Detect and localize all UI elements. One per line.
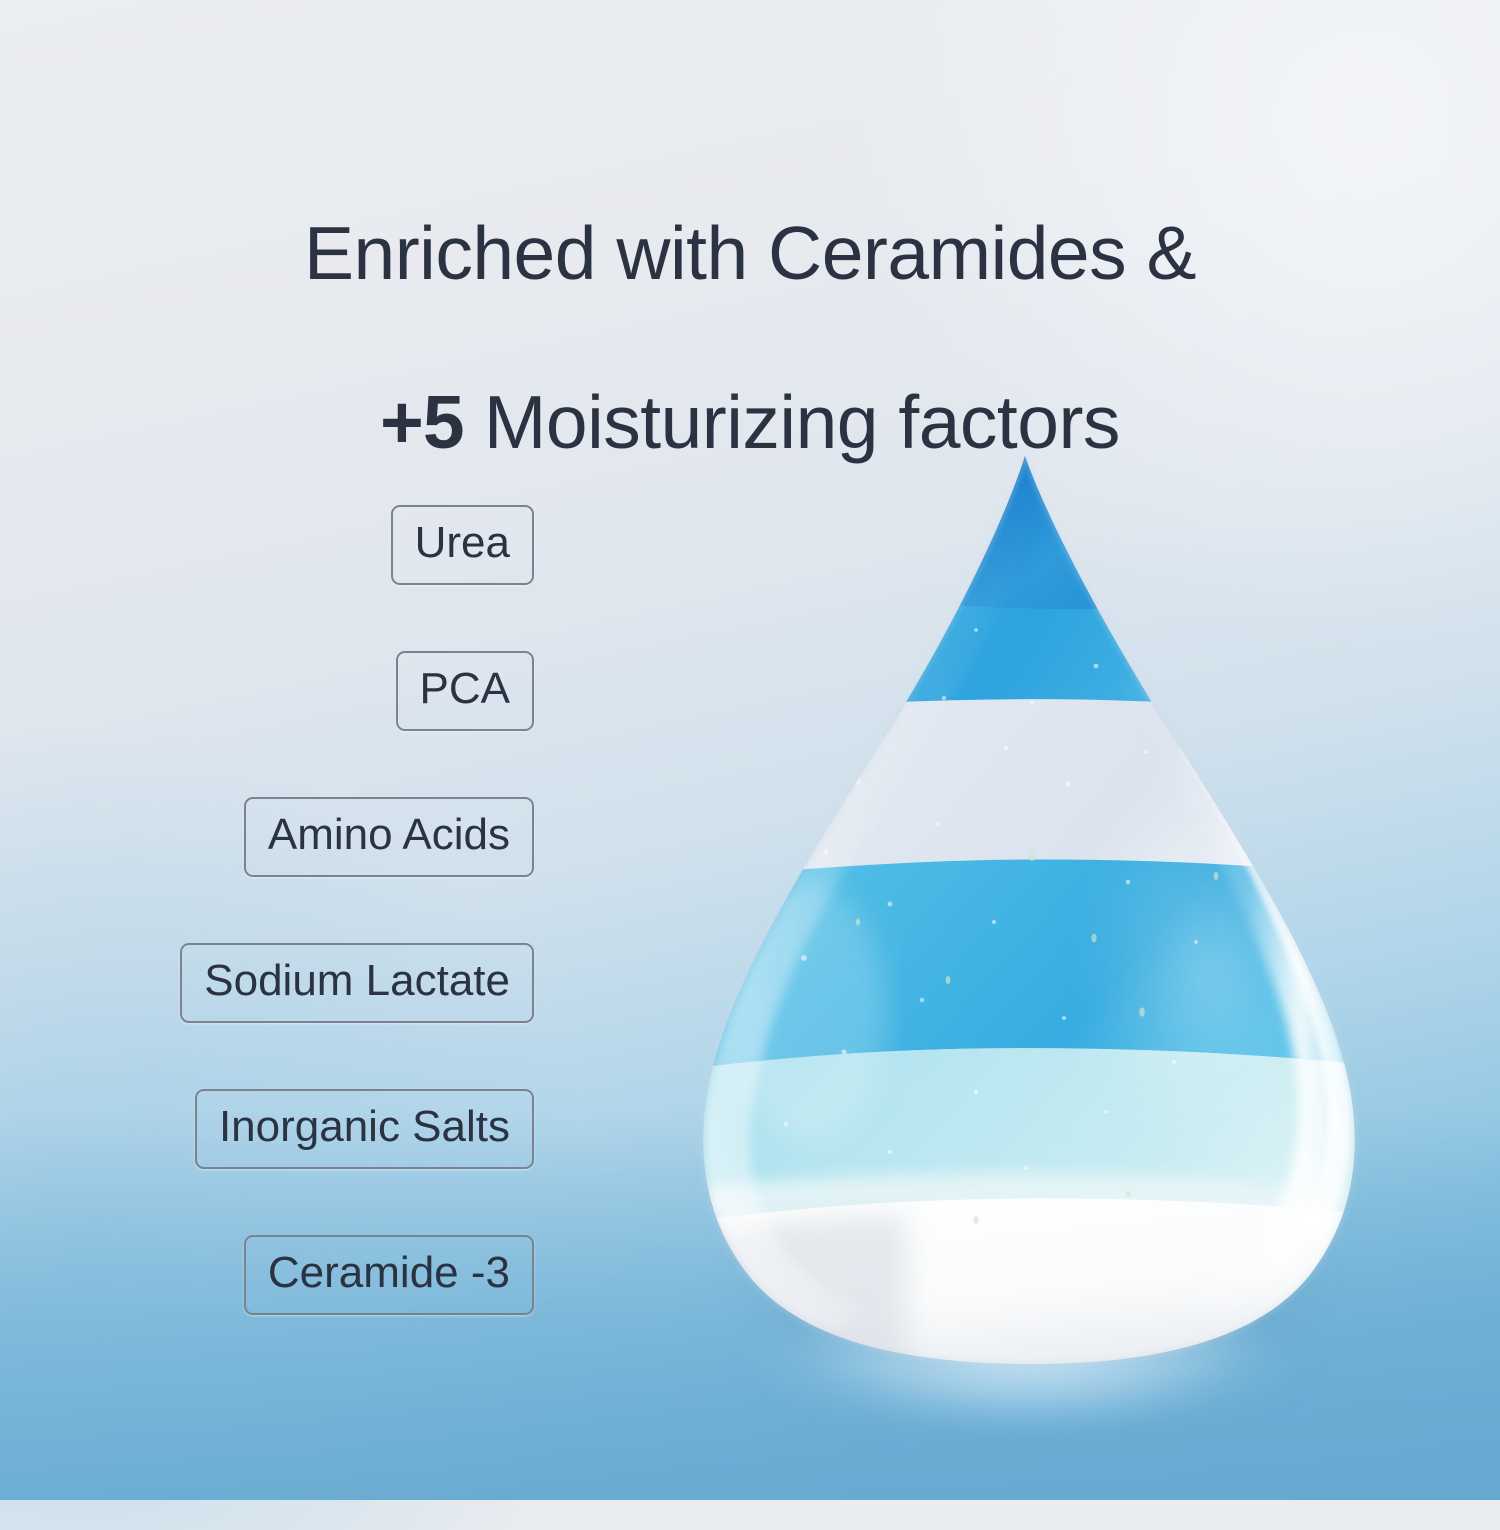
droplet-inner-glow-left	[726, 882, 886, 1142]
plus-five-emphasis: +5	[380, 380, 464, 464]
ingredient-label-amino-acids: Amino Acids	[244, 797, 534, 877]
ingredient-label-ceramide-3: Ceramide -3	[244, 1235, 534, 1315]
page-title: Enriched with Ceramides & +5 Moisturizin…	[0, 126, 1500, 550]
droplet-inner-glow	[1076, 782, 1336, 1162]
water-droplet	[676, 452, 1382, 1364]
ingredient-list: Urea PCA Amino Acids Sodium Lactate Inor…	[0, 505, 534, 1315]
droplet-illustration	[676, 452, 1382, 1364]
ingredient-label-inorganic-salts: Inorganic Salts	[195, 1089, 534, 1169]
page-title-line-2: +5 Moisturizing factors	[0, 380, 1500, 465]
page-title-line-1: Enriched with Ceramides &	[0, 211, 1500, 296]
ingredient-label-sodium-lactate: Sodium Lactate	[180, 943, 534, 1023]
page-title-line-2-rest: Moisturizing factors	[464, 380, 1120, 464]
ingredient-label-urea: Urea	[391, 505, 534, 585]
ingredient-label-pca: PCA	[396, 651, 534, 731]
band-pale-lavender	[676, 699, 1382, 886]
